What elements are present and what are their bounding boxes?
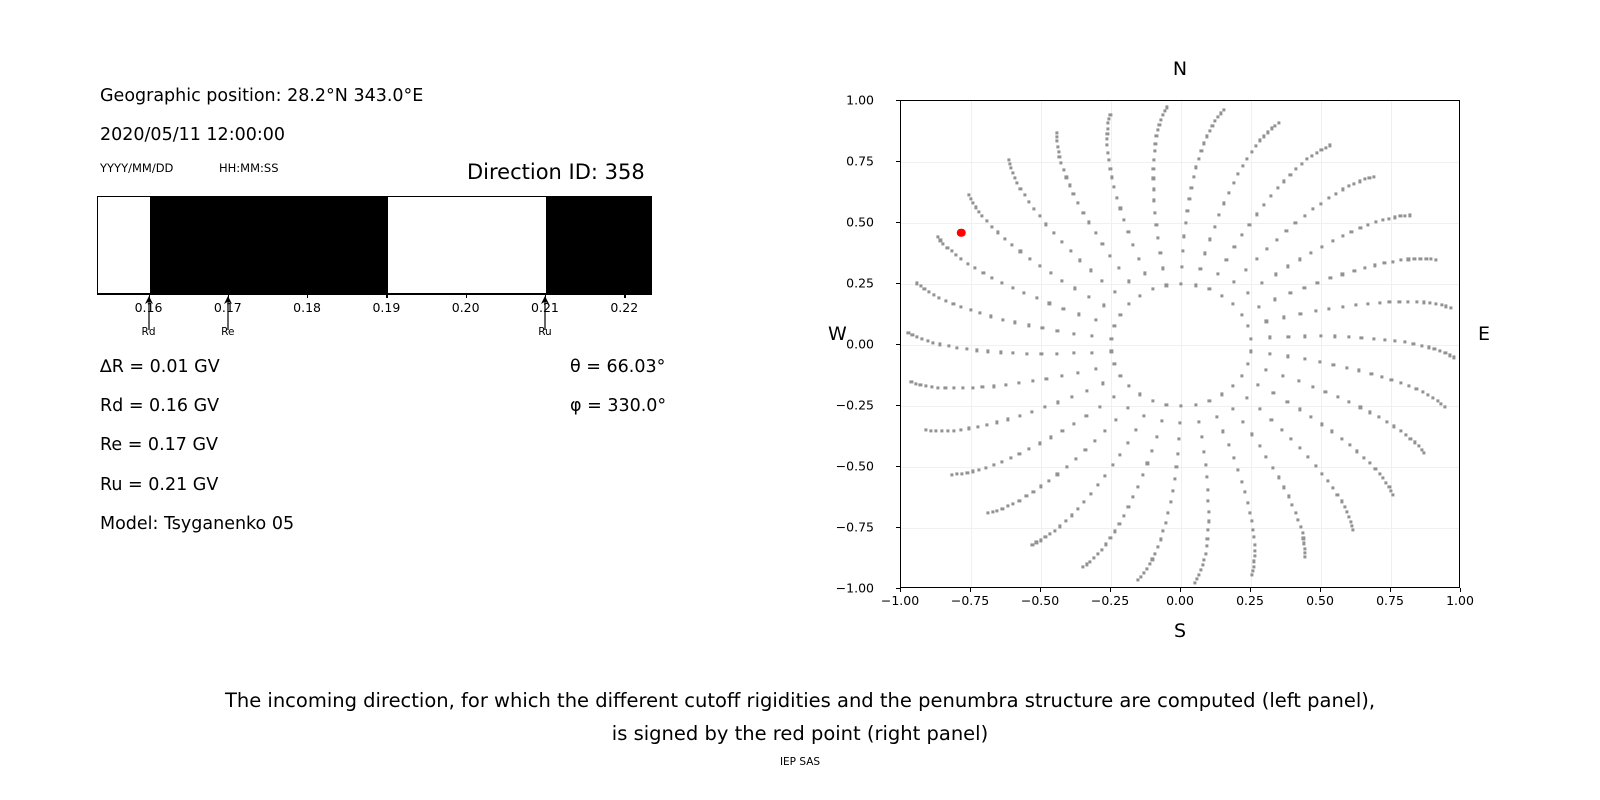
scatter-point (1303, 555, 1306, 558)
scatter-point (1347, 515, 1350, 518)
scatter-point (1163, 110, 1166, 113)
scatter-point (1094, 367, 1097, 370)
scatter-point (1363, 178, 1366, 181)
scatter-point (1216, 115, 1219, 118)
scatter-point (1010, 243, 1013, 246)
scatter-point (931, 385, 934, 388)
scatter-point (1328, 307, 1331, 310)
scatter-point (1208, 238, 1211, 241)
y-axis-tick (896, 161, 900, 162)
scatter-point (1141, 473, 1144, 476)
scatter-point (1155, 223, 1158, 226)
scatter-point (1108, 118, 1111, 121)
scatter-point (1275, 238, 1278, 241)
scatter-point (1253, 560, 1256, 563)
scatter-point (1127, 280, 1130, 283)
scatter-point (1049, 272, 1052, 275)
scatter-point (1151, 288, 1154, 291)
scatter-point (959, 428, 962, 431)
scatter-point (1362, 456, 1365, 459)
scatter-point (1090, 335, 1093, 338)
scatter-point (1154, 211, 1157, 214)
scatter-point (960, 472, 963, 475)
gridline-vertical (1391, 101, 1392, 587)
scatter-point (1426, 393, 1429, 396)
scatter-point (1208, 288, 1211, 291)
scatter-point (1294, 511, 1297, 514)
scatter-point (1195, 166, 1198, 169)
scatter-point (960, 258, 963, 261)
penumbra-band (546, 197, 650, 292)
scatter-point (1367, 223, 1370, 226)
scatter-point (1399, 215, 1402, 218)
scatter-point (1137, 578, 1140, 581)
y-axis-tick (896, 100, 900, 101)
scatter-point (1010, 167, 1013, 170)
scatter-point (1202, 142, 1205, 145)
scatter-point (1301, 532, 1304, 535)
scatter-point (1061, 429, 1064, 432)
scatter-point (923, 287, 926, 290)
scatter-point (1398, 300, 1401, 303)
scatter-point (916, 282, 919, 285)
scatter-point (1315, 151, 1318, 154)
scatter-point (1085, 414, 1088, 417)
scatter-point (986, 350, 989, 353)
scatter-point (934, 430, 937, 433)
scatter-point (1013, 321, 1016, 324)
scatter-point (1348, 444, 1351, 447)
scatter-point (1204, 252, 1207, 255)
scatter-point (1192, 175, 1195, 178)
scatter-point (1269, 194, 1272, 197)
scatter-point (1089, 560, 1092, 563)
scatter-point (1330, 430, 1333, 433)
scatter-point (1200, 436, 1203, 439)
scatter-point (1268, 352, 1271, 355)
scatter-point (1409, 437, 1412, 440)
result-ru: Ru = 0.21 GV (100, 475, 218, 495)
x-axis-tick (1180, 588, 1181, 592)
scatter-point (1009, 456, 1012, 459)
scatter-point (1378, 472, 1381, 475)
scatter-point (1057, 150, 1060, 153)
scatter-point (961, 387, 964, 390)
scatter-point (986, 423, 989, 426)
x-axis-tick-label: −0.75 (951, 593, 989, 608)
scatter-point (1145, 567, 1148, 570)
geographic-position: Geographic position: 28.2°N 343.0°E (100, 86, 423, 106)
scatter-point (1213, 225, 1216, 228)
scatter-point (1303, 286, 1306, 289)
scatter-point (928, 290, 931, 293)
scatter-point (1109, 167, 1112, 170)
scatter-point (1358, 369, 1361, 372)
scatter-point (1096, 552, 1099, 555)
penumbra-tick-label: 0.18 (293, 300, 321, 315)
scatter-point (915, 335, 918, 338)
gridline-horizontal (901, 528, 1459, 529)
y-axis-tick-label: 0.25 (846, 276, 874, 291)
scatter-point (1438, 350, 1441, 353)
scatter-point (1119, 313, 1122, 316)
scatter-point (1297, 380, 1300, 383)
scatter-point (1011, 172, 1014, 175)
y-axis-tick-label: 0.75 (846, 154, 874, 169)
scatter-point (1040, 352, 1043, 355)
scatter-point (1089, 269, 1092, 272)
scatter-point (1152, 188, 1155, 191)
scatter-point (984, 466, 987, 469)
scatter-point (1314, 464, 1317, 467)
scatter-point (1062, 307, 1065, 310)
scatter-point (1372, 175, 1375, 178)
scatter-point (1333, 335, 1336, 338)
scatter-point (1060, 161, 1063, 164)
scatter-point (1038, 264, 1041, 267)
scatter-point (1142, 572, 1145, 575)
scatter-point (1151, 558, 1154, 561)
scatter-point (1153, 150, 1156, 153)
scatter-point (1093, 440, 1096, 443)
scatter-point (986, 512, 989, 515)
scatter-point (1391, 260, 1394, 263)
scatter-point (1072, 332, 1075, 335)
scatter-point (1201, 563, 1204, 566)
caption-line-2: is signed by the red point (right panel) (0, 717, 1600, 750)
scatter-point (1269, 336, 1272, 339)
scatter-point (1286, 265, 1289, 268)
scatter-point (1272, 392, 1275, 395)
scatter-point (1449, 306, 1452, 309)
result-model: Model: Tsyganenko 05 (100, 514, 294, 534)
scatter-point (1299, 312, 1302, 315)
scatter-point (1246, 501, 1249, 504)
scatter-point (1055, 352, 1058, 355)
scatter-point (1194, 403, 1197, 406)
scatter-point (1282, 316, 1285, 319)
scatter-point (1094, 232, 1097, 235)
scatter-point (1106, 151, 1109, 154)
scatter-point (1270, 418, 1273, 421)
scatter-point (1428, 302, 1431, 305)
scatter-point (1204, 552, 1207, 555)
scatter-point (1117, 267, 1120, 270)
scatter-point (1351, 528, 1354, 531)
scatter-point (1390, 489, 1393, 492)
gridline-vertical (1321, 101, 1322, 587)
scatter-point (1231, 384, 1234, 387)
scatter-point (1132, 495, 1135, 498)
scatter-point (1289, 437, 1292, 440)
scatter-point (1303, 547, 1306, 550)
scatter-point (1047, 479, 1050, 482)
scatter-point (1381, 477, 1384, 480)
scatter-point (1055, 131, 1058, 134)
gridline-vertical (1111, 101, 1112, 587)
scatter-point (1258, 407, 1261, 410)
penumbra-bar-chart (97, 196, 652, 294)
scatter-point (1199, 267, 1202, 270)
scatter-point (965, 348, 968, 351)
scatter-point (1169, 501, 1172, 504)
scatter-point (907, 331, 910, 334)
x-axis-tick (970, 588, 971, 592)
scatter-point (1448, 354, 1451, 357)
scatter-point (1277, 121, 1280, 124)
y-axis-tick (896, 466, 900, 467)
scatter-point (1331, 239, 1334, 242)
scatter-point (1304, 335, 1307, 338)
scatter-point (1381, 218, 1384, 221)
compass-label-west: W (828, 323, 847, 345)
direction-id-label: Direction ID: 358 (467, 160, 645, 184)
scatter-point (1319, 335, 1322, 338)
x-axis-tick (1320, 588, 1321, 592)
scatter-point (1061, 279, 1064, 282)
scatter-point (944, 386, 947, 389)
scatter-point (1153, 199, 1156, 202)
footer-credit: IEP SAS (0, 756, 1600, 768)
scatter-point (1159, 538, 1162, 541)
scatter-point (1198, 573, 1201, 576)
result-theta: θ = 66.03° (570, 357, 665, 377)
scatter-point (1221, 393, 1224, 396)
scatter-point (1385, 420, 1388, 423)
scatter-point (1173, 477, 1176, 480)
x-axis-tick (1110, 588, 1111, 592)
scatter-point (950, 250, 953, 253)
gridline-vertical (971, 101, 972, 587)
scatter-point (1233, 281, 1236, 284)
scatter-point (1205, 476, 1208, 479)
x-axis-tick-label: −1.00 (881, 593, 919, 608)
scatter-point (1001, 318, 1004, 321)
scatter-point (1012, 502, 1015, 505)
x-axis-tick-label: 0.00 (1166, 593, 1194, 608)
scatter-point (1150, 449, 1153, 452)
scatter-point (1181, 249, 1184, 252)
scatter-point (1112, 395, 1115, 398)
scatter-point (1134, 429, 1137, 432)
scatter-point (1055, 136, 1058, 139)
scatter-point (966, 471, 969, 474)
scatter-point (1056, 401, 1059, 404)
scatter-point (1299, 447, 1302, 450)
scatter-point (974, 206, 977, 209)
scatter-point (1098, 405, 1101, 408)
scatter-point (1113, 530, 1116, 533)
scatter-point (1249, 350, 1252, 353)
scatter-point (1088, 221, 1091, 224)
scatter-point (1115, 418, 1118, 421)
scatter-point (1053, 529, 1056, 532)
scatter-point (1364, 266, 1367, 269)
scatter-point (1231, 303, 1234, 306)
scatter-point (1072, 352, 1075, 355)
scatter-point (969, 309, 972, 312)
scatter-point (1407, 258, 1410, 261)
scatter-point (1399, 381, 1402, 384)
scatter-point (978, 312, 981, 315)
scatter-point (1028, 257, 1031, 260)
scatter-point (1329, 277, 1332, 280)
scatter-point (1070, 514, 1073, 517)
scatter-point (1138, 393, 1141, 396)
scatter-point (1052, 232, 1055, 235)
scatter-point (1342, 305, 1345, 308)
scatter-point (1243, 491, 1246, 494)
scatter-point (1203, 558, 1206, 561)
scatter-point (1158, 123, 1161, 126)
scatter-point (1126, 441, 1129, 444)
scatter-point (1415, 300, 1418, 303)
scatter-point (1400, 259, 1403, 262)
scatter-point (1070, 395, 1073, 398)
scatter-point (1030, 410, 1033, 413)
penumbra-tick (624, 294, 625, 298)
scatter-point (1248, 511, 1251, 514)
scatter-point (1186, 209, 1189, 212)
marker-arrow-rd (142, 296, 156, 330)
scatter-point (1359, 227, 1362, 230)
scatter-point (1106, 144, 1109, 147)
scatter-point (1107, 122, 1110, 125)
scatter-point (1165, 403, 1168, 406)
scatter-point (1109, 254, 1112, 257)
scatter-point (1314, 310, 1317, 313)
scatter-point (1207, 510, 1210, 513)
direction-sky-map: N S W E −1.00−0.75−0.50−0.250.000.250.50… (790, 30, 1550, 650)
scatter-point (1236, 468, 1239, 471)
scatter-point (1332, 487, 1335, 490)
scatter-point (1001, 507, 1004, 510)
scatter-point (1345, 366, 1348, 369)
penumbra-axis (97, 294, 652, 296)
scatter-point (1176, 452, 1179, 455)
scatter-point (1403, 341, 1406, 344)
scatter-point (1206, 537, 1209, 540)
scatter-point (1291, 503, 1294, 506)
scatter-point (1111, 464, 1114, 467)
scatter-point (1246, 292, 1249, 295)
scatter-point (1374, 467, 1377, 470)
scatter-point (1206, 529, 1209, 532)
scatter-point (1413, 441, 1416, 444)
scatter-point (1215, 415, 1218, 418)
scatter-point (1227, 192, 1230, 195)
scatter-point (1327, 197, 1330, 200)
scatter-point (1205, 135, 1208, 138)
scatter-point (990, 276, 993, 279)
scatter-point (981, 215, 984, 218)
scatter-point (1065, 176, 1068, 179)
scatter-point (1320, 245, 1323, 248)
scatter-point (1079, 259, 1082, 262)
scatter-point (969, 198, 972, 201)
scatter-point (1012, 351, 1015, 354)
scatter-point (950, 473, 953, 476)
scatter-point (1250, 150, 1253, 153)
scatter-point (1178, 437, 1181, 440)
scatter-point (1156, 545, 1159, 548)
scatter-point (1392, 493, 1395, 496)
scatter-point (1206, 488, 1209, 491)
scatter-point (1360, 336, 1363, 339)
scatter-point (1041, 327, 1044, 330)
scatter-point (1334, 192, 1337, 195)
scatter-point (1289, 291, 1292, 294)
scatter-point (1373, 264, 1376, 267)
scatter-point (1016, 181, 1019, 184)
scatter-point (1282, 180, 1285, 183)
scatter-point (1367, 302, 1370, 305)
scatter-point (1144, 272, 1147, 275)
penumbra-tick-label: 0.20 (452, 300, 480, 315)
scatter-point (1385, 481, 1388, 484)
gridline-vertical (1041, 101, 1042, 587)
scatter-point (1250, 520, 1253, 523)
penumbra-tick-label: 0.22 (610, 300, 638, 315)
scatter-point (1152, 167, 1155, 170)
scatter-point (1151, 399, 1154, 402)
scatter-point (1109, 536, 1112, 539)
scatter-point (1159, 118, 1162, 121)
scatter-point (1406, 300, 1409, 303)
result-delta-r: ∆R = 0.01 GV (100, 357, 220, 377)
scatter-point (967, 262, 970, 265)
scatter-point (992, 463, 995, 466)
scatter-point (1039, 539, 1042, 542)
scatter-point (1321, 472, 1324, 475)
scatter-point (1289, 173, 1292, 176)
scatter-point (1179, 421, 1182, 424)
scatter-point (1197, 157, 1200, 160)
scatter-point (1031, 543, 1034, 546)
scatter-point (1077, 313, 1080, 316)
y-axis-tick-label: −0.50 (836, 459, 874, 474)
scatter-point (1104, 474, 1107, 477)
scatter-point (1211, 124, 1214, 127)
scatter-point (1422, 301, 1425, 304)
marker-label-ru: Ru (538, 326, 551, 338)
scatter-point (1022, 291, 1025, 294)
scatter-point (1017, 382, 1020, 385)
scatter-point (1253, 543, 1256, 546)
scatter-point (1043, 406, 1046, 409)
penumbra-tick (386, 294, 387, 298)
scatter-point (1440, 304, 1443, 307)
scatter-point (989, 315, 992, 318)
scatter-point (1388, 301, 1391, 304)
scatter-point (1343, 505, 1346, 508)
scatter-point (1101, 242, 1104, 245)
scatter-point (947, 345, 950, 348)
scatter-point (1027, 200, 1030, 203)
scatter-point (1258, 444, 1261, 447)
scatter-point (1271, 466, 1274, 469)
scatter-point (1165, 284, 1168, 287)
scatter-point (1444, 352, 1447, 355)
scatter-point (1106, 127, 1109, 130)
scatter-point (1152, 158, 1155, 161)
scatter-point (1388, 486, 1391, 489)
scatter-point (1100, 279, 1103, 282)
scatter-point (960, 305, 963, 308)
scatter-point (1264, 368, 1267, 371)
scatter-point (1274, 124, 1277, 127)
scatter-point (954, 253, 957, 256)
